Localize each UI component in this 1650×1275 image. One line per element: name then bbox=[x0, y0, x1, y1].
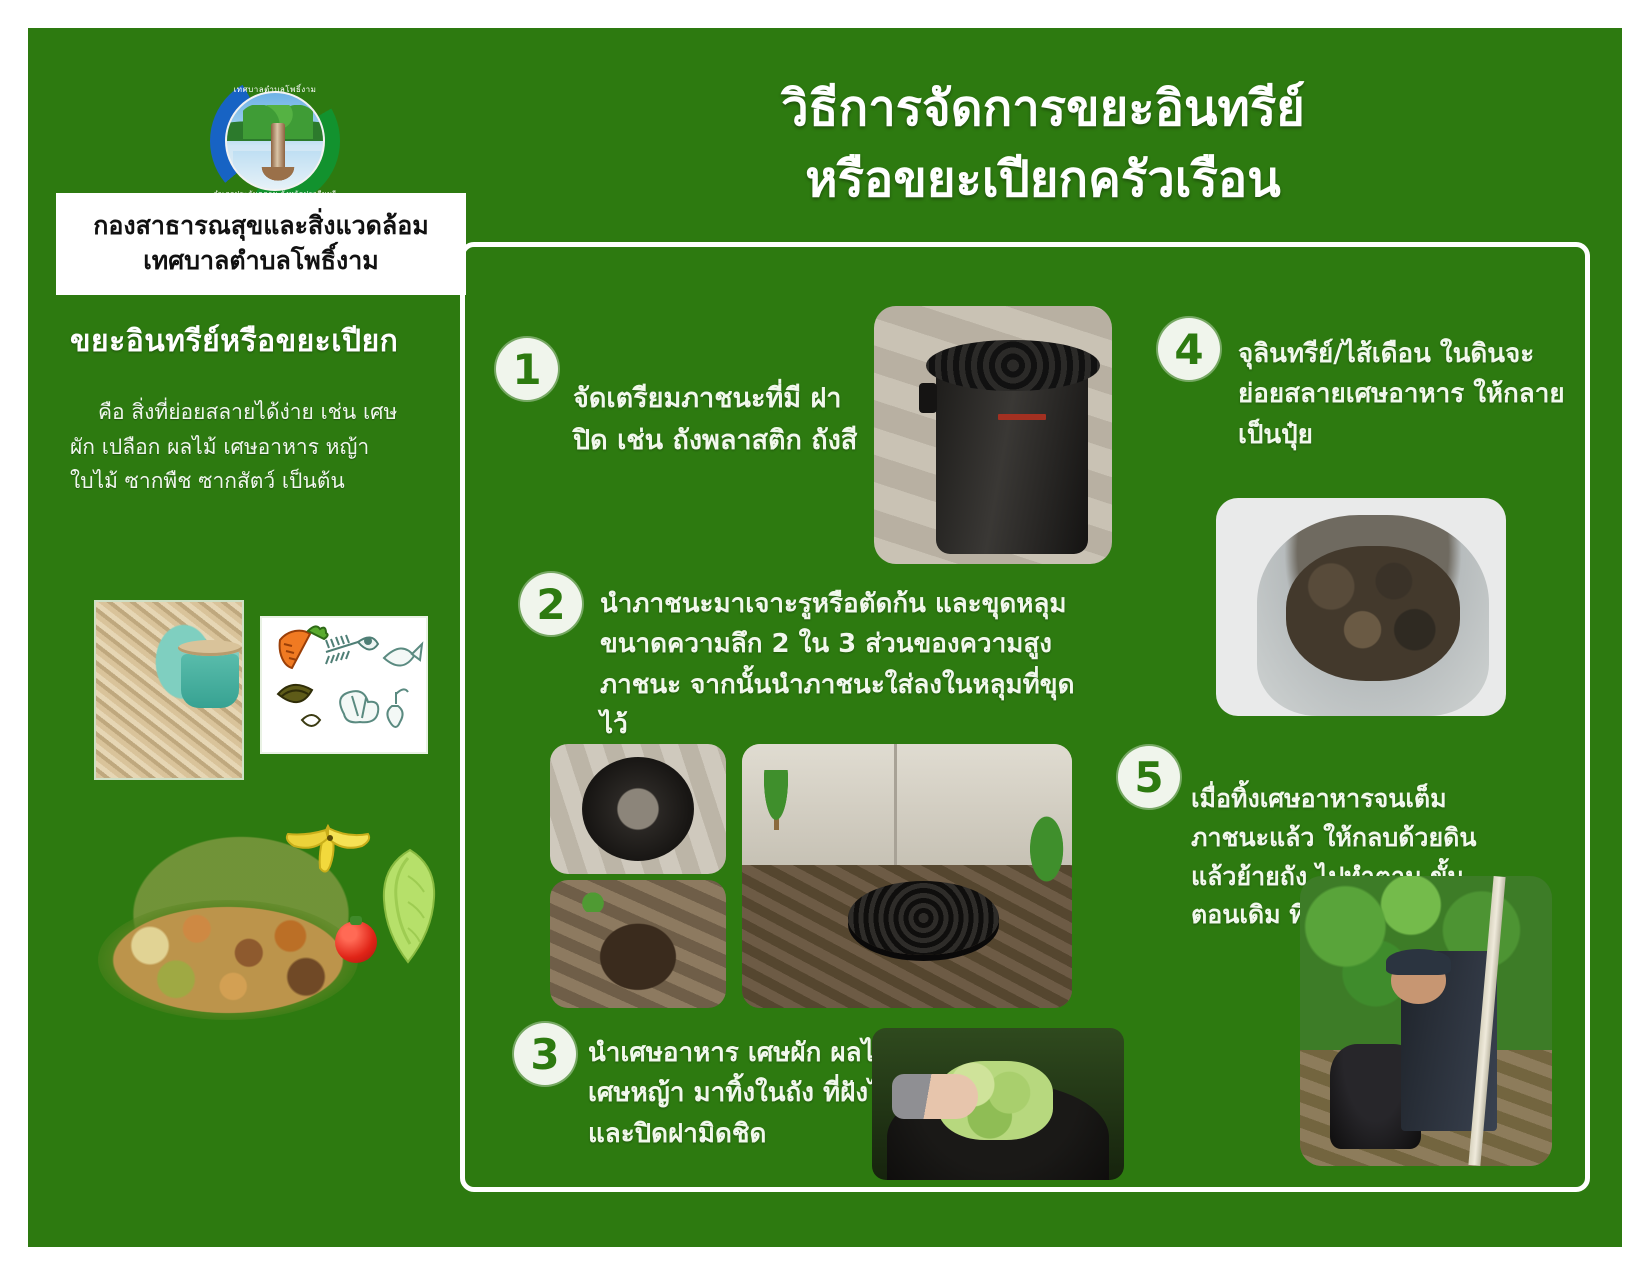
step-4-text: จุลินทรีย์/ไส้เดือน ในดินจะย่อยสลายเศษอา… bbox=[1238, 334, 1568, 455]
weed-shape bbox=[575, 890, 611, 912]
seal-top-arc-text: เทศบาลตำบลโพธิ์งาม bbox=[210, 83, 340, 96]
buried-bin-lid-shape bbox=[848, 881, 1000, 955]
wood-chips-with-bucket-photo bbox=[94, 600, 244, 780]
step-1-text: จัดเตรียมภาชนะที่มี ฝาปิด เช่น ถังพลาสติ… bbox=[573, 378, 873, 462]
sidebar-heading: ขยะอินทรีย์หรือขยะเปียก bbox=[70, 318, 478, 365]
cabbage-leaf-icon bbox=[340, 691, 378, 722]
seal-tree-trunk bbox=[271, 123, 285, 179]
department-name-box: กองสาธารณสุขและสิ่งแวดล้อม เทศบาลตำบลโพธ… bbox=[56, 193, 466, 295]
lettuce-leaf-illustration bbox=[368, 846, 450, 966]
sidebar-column: ขยะอินทรีย์หรือขยะเปียก คือ สิ่งที่ย่อยส… bbox=[28, 318, 478, 499]
step-2-number-badge: 2 bbox=[520, 573, 582, 635]
step-3-number-badge: 3 bbox=[514, 1023, 576, 1085]
dug-hole-photo bbox=[550, 880, 726, 1008]
step-2-text: นำภาชนะมาเจาะรูหรือตัดก้น และขุดหลุมขนาด… bbox=[600, 584, 1090, 745]
page-title-line-1: วิธีการจัดการขยะอินทรีย์ bbox=[628, 73, 1458, 144]
compost-pile-photo bbox=[98, 900, 358, 1020]
poster-canvas: เทศบาลตำบลโพธิ์งาม อำเภอประจันตคาม จังหว… bbox=[28, 28, 1622, 1247]
page-title: วิธีการจัดการขยะอินทรีย์ หรือขยะเปียกครั… bbox=[628, 73, 1458, 215]
fish-bone-icon bbox=[326, 635, 378, 664]
sidebar-body-text: คือ สิ่งที่ย่อยสลายได้ง่าย เช่น เศษผัก เ… bbox=[70, 395, 400, 499]
step-5-number-badge: 5 bbox=[1118, 746, 1180, 808]
bin-opening-shape bbox=[582, 757, 694, 861]
carrot-icon bbox=[280, 626, 328, 668]
bin-label-shape bbox=[998, 414, 1046, 420]
page-title-line-2: หรือขยะเปียกครัวเรือน bbox=[628, 144, 1458, 215]
seal-inner-emblem bbox=[225, 91, 325, 191]
bin-interior-top-view-photo bbox=[550, 744, 726, 874]
watermelon-rind-icon bbox=[278, 685, 320, 726]
black-plastic-bin-photo bbox=[874, 306, 1112, 564]
step-1-number-badge: 1 bbox=[496, 338, 558, 400]
decomposed-matter-shape bbox=[1286, 546, 1460, 681]
department-line-2: เทศบาลตำบลโพธิ์งาม bbox=[143, 247, 378, 276]
fish-icon bbox=[384, 644, 422, 666]
plant-left-shape bbox=[755, 770, 797, 850]
apple-core-icon bbox=[387, 689, 408, 727]
municipality-seal-logo: เทศบาลตำบลโพธิ์งาม อำเภอประจันตคาม จังหว… bbox=[210, 76, 340, 206]
buried-bin-with-lid-photo bbox=[742, 744, 1072, 1008]
bin-handle-shape bbox=[919, 383, 937, 413]
person-moving-bin-photo bbox=[1300, 876, 1552, 1166]
teal-bucket-shape bbox=[181, 648, 239, 708]
plant-right-shape bbox=[1019, 813, 1065, 903]
bin-lid-shape bbox=[926, 340, 1100, 392]
person-cap-shape bbox=[1386, 949, 1452, 975]
food-scrap-illustrations-panel bbox=[260, 616, 428, 754]
food-scrap-illustrations-svg bbox=[262, 618, 426, 752]
hand-shape bbox=[892, 1074, 978, 1120]
step-4-number-badge: 4 bbox=[1158, 318, 1220, 380]
decomposed-matter-in-bucket-photo bbox=[1216, 498, 1506, 716]
department-line-1: กองสาธารณสุขและสิ่งแวดล้อม bbox=[93, 212, 428, 241]
hands-dumping-vegetable-scraps-photo bbox=[872, 1028, 1124, 1180]
